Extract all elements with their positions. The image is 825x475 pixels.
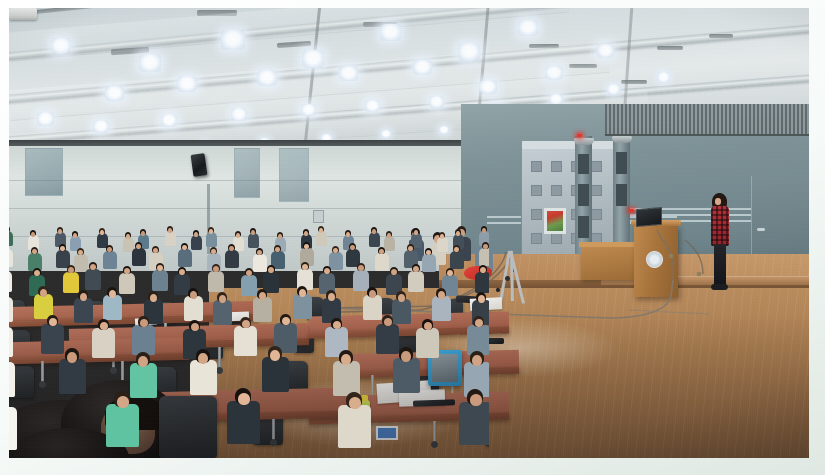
- audience-member-torso: [262, 357, 289, 392]
- audience-member-head: [90, 264, 96, 270]
- audience-member-head: [408, 246, 413, 251]
- audience-member-torso: [353, 270, 369, 291]
- audience-member-torso: [103, 251, 117, 269]
- audience-member-head: [440, 234, 444, 239]
- audience-member-torso: [393, 358, 420, 393]
- audience-member-head: [213, 266, 219, 272]
- audience-member-head: [454, 247, 459, 252]
- audience-member-head: [369, 290, 376, 298]
- audience-member-head: [211, 249, 216, 254]
- audience-member-head: [275, 247, 280, 252]
- audience-member-torso: [9, 249, 13, 267]
- audience-member-head: [182, 245, 187, 250]
- audience-member-torso: [422, 254, 436, 272]
- audience-member-torso: [329, 252, 343, 270]
- audience-member-head: [219, 295, 226, 303]
- audience-member-head: [73, 233, 77, 238]
- audience-member-torso: [178, 249, 192, 267]
- audience-member-head: [398, 294, 405, 302]
- audience-member-head: [414, 230, 418, 235]
- audience-member-head: [229, 246, 234, 251]
- audience-member-head: [100, 322, 108, 330]
- audience-member-head: [117, 396, 129, 408]
- audience-member-torso: [165, 231, 176, 246]
- audience-member-head: [333, 248, 338, 253]
- audience-member-head: [40, 289, 47, 297]
- audience-member-head: [31, 232, 35, 237]
- audience-member-head: [257, 250, 262, 255]
- photo-frame: [0, 0, 825, 475]
- audience-member-head: [150, 294, 157, 302]
- audience-member-head: [350, 245, 355, 250]
- audience-member-head: [126, 234, 130, 239]
- audience-member-head: [100, 230, 104, 235]
- audience-member-head: [424, 322, 432, 330]
- audience-member-torso: [9, 327, 13, 357]
- audience-member-torso: [190, 360, 217, 395]
- audience-member-torso: [206, 232, 217, 247]
- audience-member-torso: [432, 296, 451, 321]
- audience-member-head: [475, 319, 483, 327]
- audience-member-torso: [450, 251, 464, 269]
- audience-member-head: [304, 244, 309, 249]
- audience-member-head: [302, 264, 308, 270]
- audience-member-head: [194, 232, 198, 237]
- audience-member-torso: [41, 324, 64, 354]
- audience-member-head: [49, 318, 57, 326]
- audience-member-head: [157, 265, 163, 271]
- audience-member-head: [138, 356, 148, 367]
- audience-member-head: [472, 355, 482, 366]
- audience-member-torso: [416, 328, 439, 358]
- audience-member-head: [447, 270, 453, 276]
- audience-member-torso: [479, 248, 489, 266]
- audience-member-torso: [338, 405, 371, 448]
- audience-member-torso: [184, 296, 203, 321]
- audience-member-head: [341, 354, 351, 365]
- audience-member-torso: [234, 326, 257, 356]
- audience-member-torso: [369, 232, 380, 247]
- audience-member-torso: [213, 300, 232, 325]
- audience-member-torso: [316, 231, 327, 246]
- audience-member-torso: [227, 401, 260, 444]
- audience-member-head: [107, 247, 112, 252]
- audience-member-torso: [92, 328, 115, 358]
- audience-member-head: [179, 269, 185, 275]
- audience-member-head: [483, 244, 488, 249]
- audience-member-torso: [392, 299, 411, 324]
- audience-member-head: [391, 269, 397, 275]
- audience-member-head: [299, 289, 306, 297]
- audience-member-torso: [253, 297, 272, 322]
- audience-member-head: [324, 268, 330, 274]
- audience-member-head: [153, 248, 158, 253]
- audience-member-torso: [85, 269, 101, 290]
- audience-member-head: [198, 353, 208, 364]
- audience-member-head: [209, 229, 213, 234]
- audience-member-head: [349, 397, 361, 409]
- audience-member-torso: [293, 294, 312, 319]
- audience-member-head: [140, 319, 148, 327]
- audience-member-torso: [103, 295, 122, 320]
- audience-member-torso: [241, 275, 257, 296]
- audience-member-head: [68, 267, 74, 273]
- audience-member-head: [109, 290, 116, 298]
- audience-member-head: [401, 351, 411, 362]
- audience-member-torso: [132, 248, 146, 266]
- audience-member-head: [387, 233, 391, 238]
- audience-member-head: [282, 317, 290, 325]
- audience-member-torso: [9, 297, 13, 322]
- audience-member-head: [60, 246, 65, 251]
- audience-member-head: [236, 233, 240, 238]
- audience-member-torso: [459, 402, 489, 445]
- audience-member-torso: [191, 235, 202, 250]
- audience-member-head: [136, 244, 141, 249]
- audience-member-torso: [475, 272, 489, 293]
- audience-member-torso: [248, 233, 259, 248]
- audience-member-torso: [106, 404, 139, 447]
- audience-member-head: [67, 352, 77, 363]
- audience-member-head: [372, 229, 376, 234]
- audience-member-torso: [9, 271, 12, 292]
- audience-member-torso: [119, 273, 135, 294]
- lecture-hall-photograph: [9, 8, 809, 458]
- audience-member-torso: [74, 298, 93, 323]
- audience-member-head: [333, 321, 341, 329]
- audience-member-head: [270, 350, 280, 361]
- audience-member-head: [319, 228, 323, 233]
- audience-member-head: [478, 295, 485, 303]
- audience-member-torso: [132, 325, 155, 355]
- audience-member-torso: [59, 359, 86, 394]
- audience-member-head: [32, 249, 37, 254]
- audience-member-head: [480, 267, 486, 273]
- audience-member-head: [124, 268, 130, 274]
- audience-member-head: [358, 265, 364, 271]
- audience-member-torso: [408, 271, 424, 292]
- audience-member-head: [141, 231, 145, 236]
- audience-member-torso: [376, 324, 399, 354]
- audience-member-torso: [208, 271, 224, 292]
- audience-member-torso: [437, 237, 448, 252]
- audience-member-torso: [63, 272, 79, 293]
- audience-member-head: [58, 229, 62, 234]
- audience-member-head: [78, 250, 83, 255]
- audience-member-head: [251, 230, 255, 235]
- audience-member-head: [34, 270, 40, 276]
- audience-member-torso: [375, 253, 389, 271]
- audience-member-torso: [333, 361, 360, 396]
- audience-member-torso: [384, 236, 395, 251]
- audience-member-head: [246, 270, 252, 276]
- audience-member-head: [191, 323, 199, 331]
- audience-member-head: [190, 291, 197, 299]
- audience-member-head: [242, 320, 250, 328]
- audience-member-head: [238, 393, 250, 405]
- audience-member-torso: [152, 270, 168, 291]
- audience-member-head: [413, 266, 419, 272]
- audience-member-head: [438, 291, 445, 299]
- audience-member-head: [80, 293, 87, 301]
- audience-member-torso: [9, 231, 13, 246]
- audience-member-head: [268, 267, 274, 273]
- audience-member-head: [470, 394, 482, 406]
- audience-member-torso: [9, 362, 15, 397]
- audience-member-head: [384, 318, 392, 326]
- audience-member-head: [379, 249, 384, 254]
- audience-member-head: [328, 293, 335, 301]
- audience-member-torso: [363, 295, 382, 320]
- audience-member-head: [278, 234, 282, 239]
- audience-member-torso: [130, 363, 157, 398]
- audience-member-head: [259, 292, 266, 300]
- audience-member-torso: [253, 254, 267, 272]
- audience-member-head: [426, 250, 431, 255]
- audience-member-head: [456, 231, 460, 236]
- audience-member-head: [482, 228, 486, 233]
- audience-member-head: [304, 231, 308, 236]
- audience-member-torso: [9, 407, 17, 450]
- audience-member-torso: [225, 250, 239, 268]
- audience-member-head: [168, 228, 172, 233]
- audience-member-head: [346, 232, 350, 237]
